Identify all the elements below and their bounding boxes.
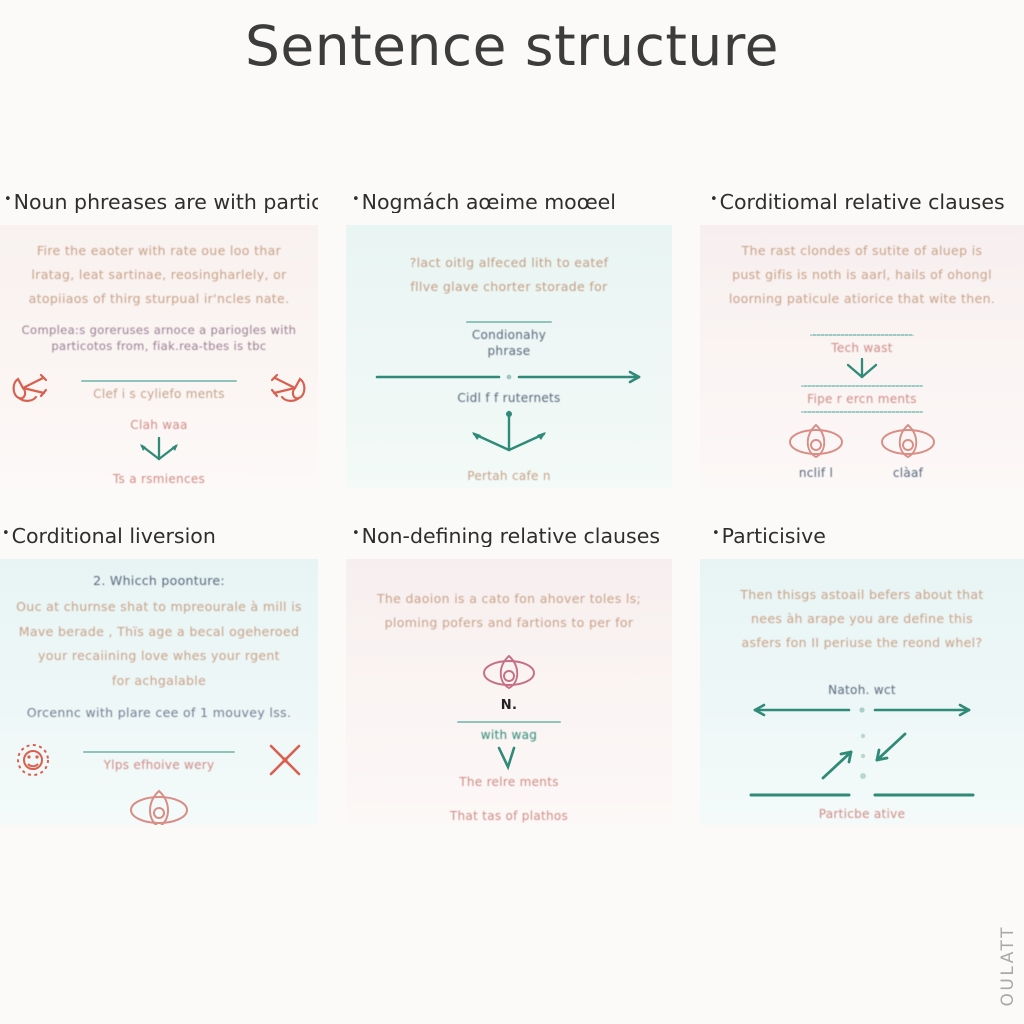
- diagram-label-3: That tas of plathos: [356, 808, 662, 824]
- down-hook-arrow-icon: [474, 744, 544, 774]
- diagram-label-mid: Cidl f f ruternets: [356, 390, 662, 406]
- paragraph-line: fllve glave chorter storade for: [356, 275, 662, 299]
- diagram-row: Ylps efhoive wery: [10, 737, 308, 783]
- paragraph-line: ?lact oitlg alfeced lith to eatef: [356, 251, 662, 275]
- diagonal-arrows-icon: [737, 722, 987, 788]
- panel-participle[interactable]: • Particisive Then thisgs astoail befers…: [700, 526, 1024, 825]
- divider: [801, 411, 923, 413]
- bullet-icon: •: [710, 193, 718, 206]
- paragraph-line: Then thisgs astoail befers about that: [710, 583, 1014, 607]
- icon-label-right: clàаf: [879, 465, 937, 481]
- subparagraph-line: Complea:s goreruses arnoce a pariogles w…: [10, 322, 308, 339]
- panel-paragraph: Then thisgs astoail befers about that ne…: [710, 583, 1014, 656]
- paragraph-line: nees àh arape you are define this: [710, 607, 1014, 631]
- diagram-label-top: Tech wast: [710, 340, 1014, 356]
- panel-subparagraph: Complea:s goreruses arnoce a pariogles w…: [10, 322, 308, 355]
- panel-body: The rast clondes of sutite of aluep is p…: [700, 225, 1024, 488]
- panel-paragraph: Fire the eaoter with rate oue loo thar l…: [10, 239, 308, 312]
- panel-nogmach-acime-model[interactable]: • Nogmách aœime moœel ?lact oitlg alfece…: [346, 192, 672, 488]
- diagram-label-2: The relre ments: [356, 774, 662, 790]
- panel-body: 2. Whicch poonture: Ouc at churnse shat …: [0, 559, 318, 825]
- icon-row: nclif l clàаf: [710, 421, 1014, 481]
- diagram-label-top: Natoh. wct: [710, 682, 1014, 698]
- diagram-label-bottom: Particbe ative: [710, 806, 1014, 822]
- icon-block: ‹: [10, 787, 308, 824]
- panel-paragraph: Ouc at churnse shat to mpreourale à mill…: [10, 595, 308, 693]
- divider: [801, 385, 923, 387]
- bullet-icon: •: [352, 193, 360, 206]
- panel-heading: • Particisive: [700, 526, 1024, 547]
- panel-heading-text: Corditional liversion: [12, 526, 216, 547]
- icon-caption: N.: [356, 697, 662, 715]
- panel-heading-text: Corditiomal relative clauses: [720, 192, 1005, 213]
- eye-oval-icon: [879, 421, 937, 461]
- diagram-center-label: Ylps efhoive wery: [66, 757, 252, 773]
- paragraph-line: atopiiaos of thirg sturpual ir'ncles nat…: [10, 287, 308, 311]
- paragraph-line: for achgalable: [10, 669, 308, 693]
- paragraph-line: Fire the eaoter with rate oue loo thar: [10, 239, 308, 263]
- icon-block: N.: [356, 653, 662, 715]
- divider: [466, 321, 552, 323]
- diagram-label-mid: Fipe r ercn ments: [710, 391, 1014, 407]
- panel-heading-text: Noun phreases are with participles: [14, 192, 318, 213]
- panel-heading: • Non-defining relative clauses: [346, 526, 672, 547]
- eye-oval-icon: [480, 653, 538, 693]
- subparagraph-line: particotos from, fiak.rea-tbes is tbc: [10, 338, 308, 355]
- bow-left-icon: [10, 369, 54, 409]
- diagram-row: Clef i s cyliefo ments: [10, 369, 308, 409]
- panel-heading: • Noun phreases are with participles: [0, 192, 318, 213]
- base-line-pair: [737, 788, 987, 802]
- diagram-label-top-2: phrase: [356, 343, 662, 359]
- horizontal-double-arrow-icon: [737, 700, 987, 720]
- bullet-icon: •: [4, 193, 12, 206]
- x-cross-icon: [262, 737, 308, 783]
- paragraph-line: asfers fon II periuse the reond whel?: [710, 631, 1014, 655]
- page-title: Sentence structure: [0, 14, 1024, 78]
- diagram-label-bottom: Ts a rsmiences: [10, 471, 308, 487]
- paragraph-line: loorning paticule atiorice that wite the…: [710, 287, 1014, 311]
- bullet-icon: •: [712, 527, 720, 540]
- numbered-line: 2. Whicch poonture:: [10, 573, 308, 590]
- slate-line: Orcennc with plare cee of 1 mouvey lss.: [10, 701, 308, 725]
- bullet-icon: •: [352, 527, 360, 540]
- paragraph-line: Mave berade , Thïs age a becal ogeheroed: [10, 620, 308, 644]
- panel-heading-text: Nogmách aœime moœel: [362, 192, 616, 213]
- panel-paragraph: ?lact oitlg alfeced lith to eatef fllve …: [356, 251, 662, 300]
- eye-oval-icon: [787, 421, 845, 461]
- paragraph-line: Ouc at churnse shat to mpreourale à mill…: [10, 595, 308, 619]
- eye-oval-icon: [128, 787, 190, 824]
- panel-paragraph: The daoion is a cato fon ahover toles ls…: [356, 587, 662, 636]
- page-root: { "page": { "title": "Sentence structure…: [0, 0, 1024, 1024]
- paragraph-line: lratag, leat sartinae, reosingharlely, o…: [10, 263, 308, 287]
- bullet-icon: •: [2, 527, 10, 540]
- diagram-label-1: with wag: [356, 727, 662, 743]
- paragraph-line: pust gifis is noth is aarl, hails of oho…: [710, 263, 1014, 287]
- panel-heading-text: Particisive: [722, 526, 826, 547]
- paragraph-line: ploming pofers and fartions to per for: [356, 611, 662, 635]
- gear-circle-icon: [10, 737, 56, 783]
- down-branch-arrow-icon: [827, 357, 897, 383]
- horizontal-double-arrow-icon: [369, 366, 649, 388]
- panel-body: ?lact oitlg alfeced lith to eatef fllve …: [346, 225, 672, 488]
- divider: [457, 721, 561, 723]
- paragraph-line: your recaiining love whes your rgent: [10, 644, 308, 668]
- panel-non-defining-relative-clauses[interactable]: • Non-defining relative clauses The daoi…: [346, 526, 672, 825]
- panel-grid: • Noun phreases are with participles Fir…: [0, 178, 1024, 858]
- diagram-label-top-1: Condionahy: [356, 327, 662, 343]
- panel-body: The daoion is a cato fon ahover toles ls…: [346, 559, 672, 825]
- divider: [81, 380, 237, 382]
- divider: [83, 751, 236, 753]
- paragraph-line: The rast clondes of sutite of aluep is: [710, 239, 1014, 263]
- icon-label-left: nclif l: [787, 465, 845, 481]
- panel-conditional-relative-clauses[interactable]: • Corditiomal relative clauses The rast …: [700, 192, 1024, 488]
- diagram-label-rule-top: Clef i s cyliefo ments: [64, 386, 254, 402]
- panel-paragraph: The rast clondes of sutite of aluep is p…: [710, 239, 1014, 312]
- panel-heading-text: Non-defining relative clauses: [362, 526, 660, 547]
- panel-noun-phrases-with-participles[interactable]: • Noun phreases are with participles Fir…: [0, 192, 318, 488]
- diagram-label-bottom: Pertah cafe n: [356, 468, 662, 484]
- panel-body: Fire the eaoter with rate oue loo thar l…: [0, 225, 318, 488]
- panel-heading: • Corditional liversion: [0, 526, 318, 547]
- paragraph-line: The daoion is a cato fon ahover toles ls…: [356, 587, 662, 611]
- v-branch-arrow-icon: [434, 408, 584, 460]
- panel-heading: • Corditiomal relative clauses: [700, 192, 1024, 213]
- diagram-label-middle: Clah waa: [10, 417, 308, 433]
- bow-right-icon: [264, 369, 308, 409]
- panel-body: Then thisgs astoail befers about that ne…: [700, 559, 1024, 825]
- divider: [810, 334, 913, 336]
- down-branch-arrow-icon: [124, 435, 194, 467]
- watermark: OULATT: [998, 925, 1018, 1006]
- panel-conditional-inversion[interactable]: • Corditional liversion 2. Whicch poontu…: [0, 526, 318, 825]
- panel-heading: • Nogmách aœime moœel: [346, 192, 672, 213]
